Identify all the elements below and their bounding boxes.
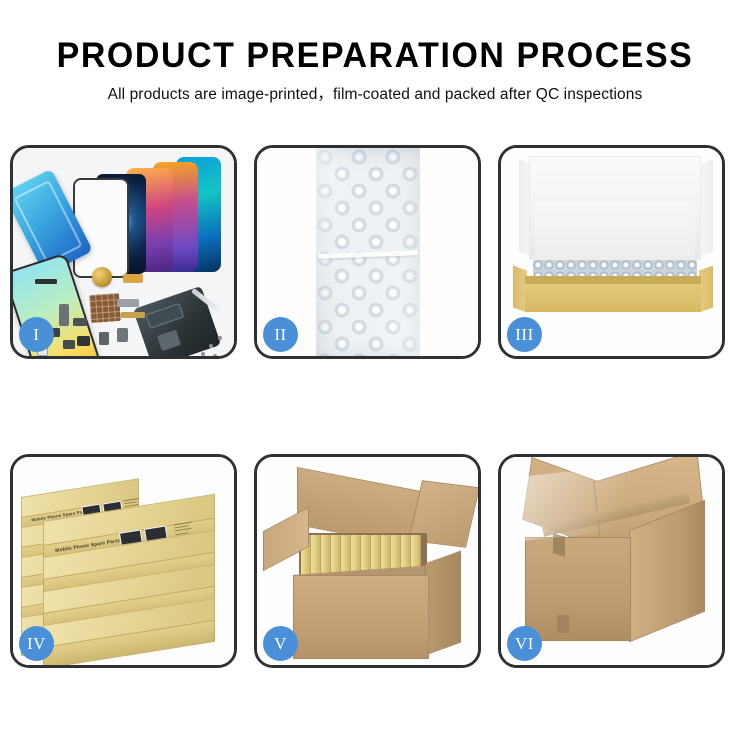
step-badge-1: I	[19, 317, 54, 352]
process-steps-grid: I II	[10, 145, 740, 673]
page-subtitle: All products are image-printed，film-coat…	[0, 76, 750, 105]
process-step-panel-4: Mobile Phone Spare Parts Mobile Phone Sp…	[10, 454, 237, 668]
product-preparation-process-page: PRODUCT PREPARATION PROCESS All products…	[0, 0, 750, 750]
process-step-panel-1: I	[10, 145, 237, 359]
process-step-panel-3: III	[498, 145, 725, 359]
page-title: PRODUCT PREPARATION PROCESS	[11, 0, 739, 76]
step-badge-6: VI	[507, 626, 542, 661]
process-step-panel-6: VI	[498, 454, 725, 668]
page-header: PRODUCT PREPARATION PROCESS All products…	[0, 0, 750, 105]
step-badge-3: III	[507, 317, 542, 352]
step-badge-4: IV	[19, 626, 54, 661]
process-step-panel-5: V	[254, 454, 481, 668]
step-badge-2: II	[263, 317, 298, 352]
process-step-panel-2: II	[254, 145, 481, 359]
step-badge-5: V	[263, 626, 298, 661]
